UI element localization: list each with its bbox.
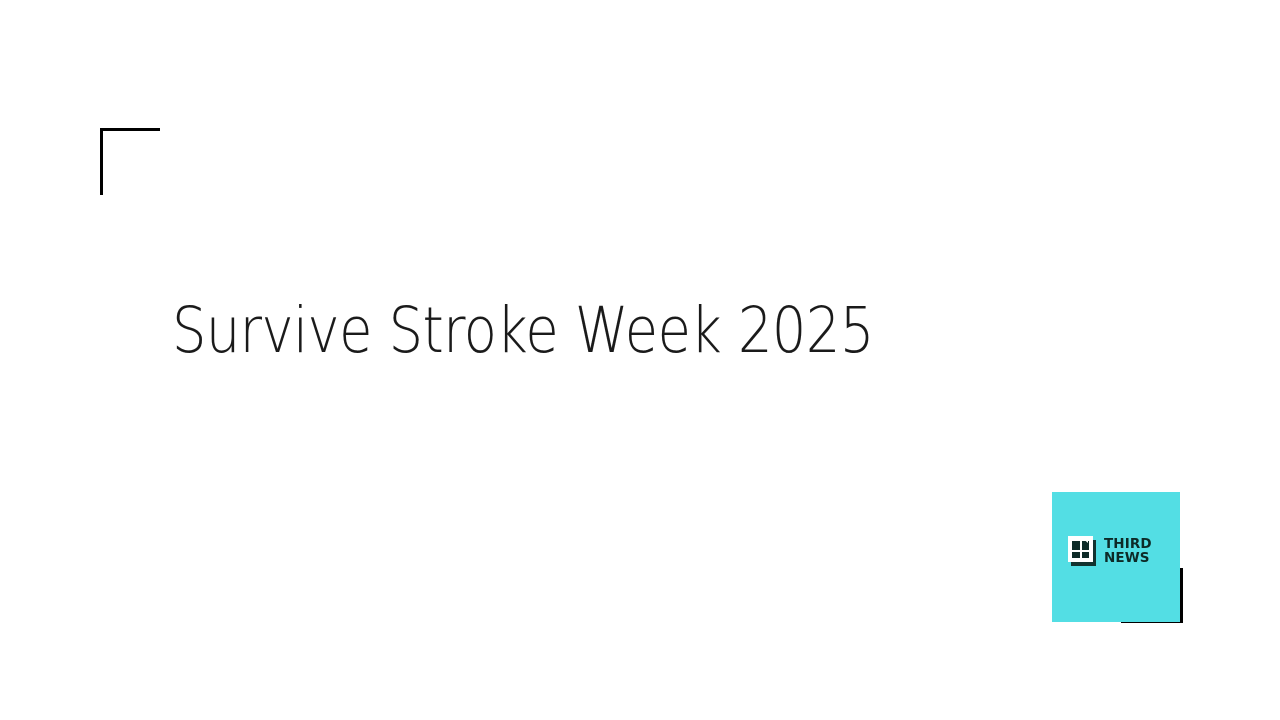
corner-bracket	[100, 128, 160, 195]
newspaper-icon-pane	[1072, 541, 1089, 558]
title-slide: Survive Stroke Week 2025 THIRD NEWS	[0, 0, 1280, 720]
brand-badge: THIRD NEWS	[1052, 492, 1183, 623]
brand-wordmark-line-1: THIRD	[1104, 537, 1152, 551]
brand-wordmark-line-2: NEWS	[1104, 551, 1152, 565]
corner-bracket-left-arm	[100, 128, 103, 195]
newspaper-icon	[1068, 536, 1098, 566]
page-title: Survive Stroke Week 2025	[172, 298, 946, 364]
brand-logo: THIRD NEWS	[1068, 536, 1152, 566]
title-block: Survive Stroke Week 2025	[172, 298, 1072, 364]
corner-bracket-top-arm	[100, 128, 160, 131]
brand-wordmark: THIRD NEWS	[1104, 537, 1152, 565]
newspaper-icon-pane-divider-horizontal	[1072, 550, 1089, 552]
